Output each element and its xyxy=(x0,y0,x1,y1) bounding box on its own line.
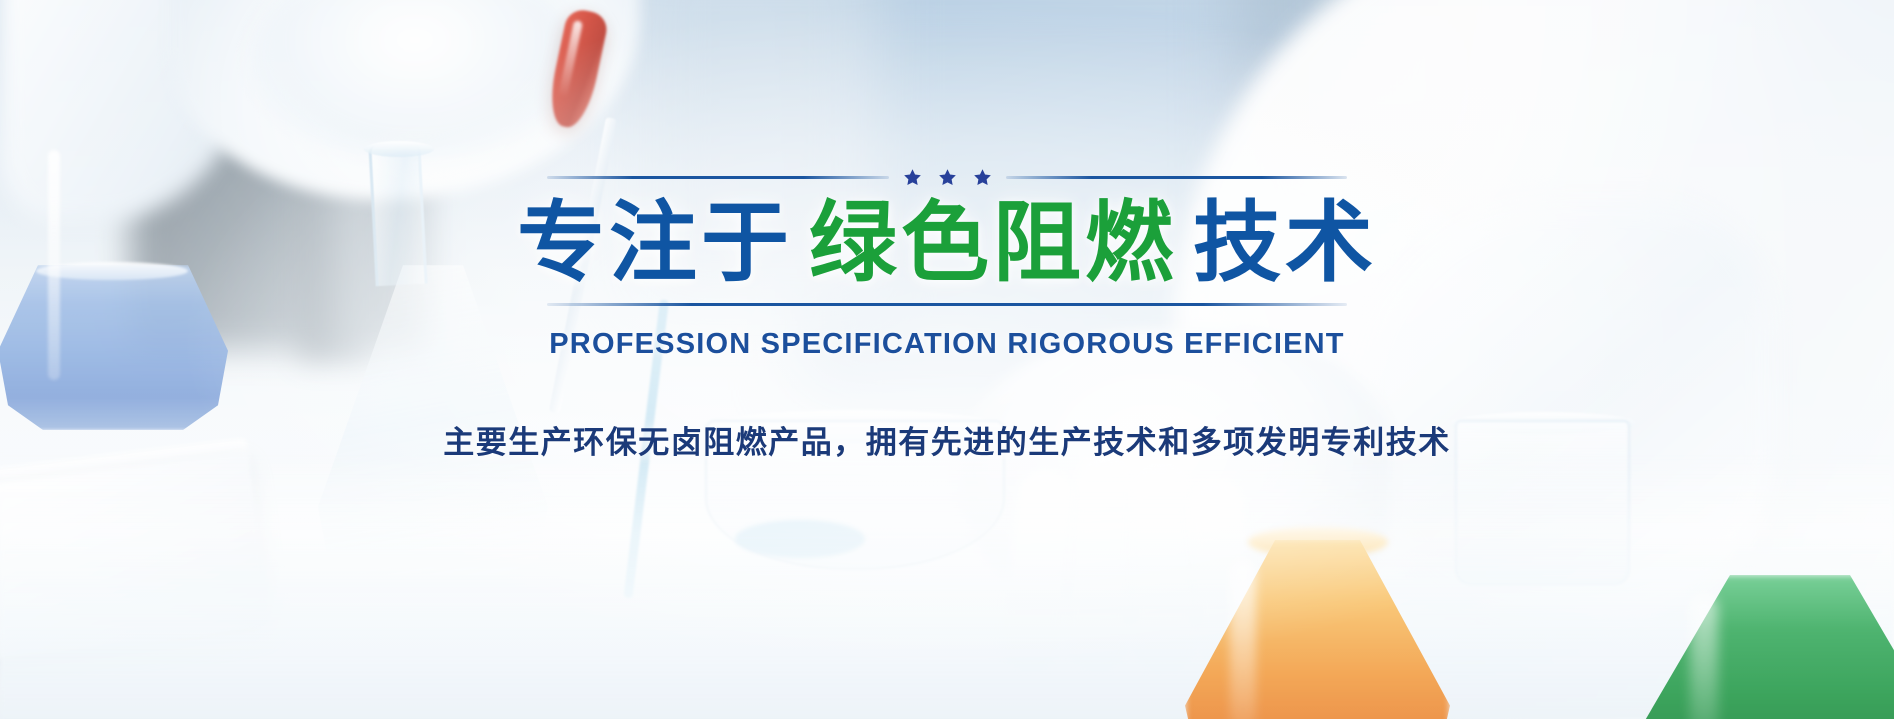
decorative-divider-top xyxy=(547,168,1347,187)
divider-rule-right xyxy=(1006,176,1348,179)
subtitle-english: PROFESSION SPECIFICATION RIGOROUS EFFICI… xyxy=(549,328,1344,361)
headline-part-3: 技术 xyxy=(1193,191,1377,295)
decorative-divider-bottom xyxy=(547,303,1347,306)
tagline-chinese: 主要生产环保无卤阻燃产品，拥有先进的生产技术和多项发明专利技术 xyxy=(443,417,1451,462)
star-icon xyxy=(973,168,992,187)
page-title: 专注于 绿色阻燃 技术 xyxy=(517,191,1377,295)
headline-part-1: 专注于 xyxy=(517,191,793,295)
star-icon xyxy=(938,168,957,187)
divider-rule-left xyxy=(547,176,889,179)
banner-content: 专注于 绿色阻燃 技术 PROFESSION SPECIFICATION RIG… xyxy=(0,0,1894,719)
star-icon xyxy=(903,168,922,187)
headline-part-2: 绿色阻燃 xyxy=(809,191,1177,295)
hero-banner: 专注于 绿色阻燃 技术 PROFESSION SPECIFICATION RIG… xyxy=(0,0,1894,719)
star-group xyxy=(903,168,992,187)
